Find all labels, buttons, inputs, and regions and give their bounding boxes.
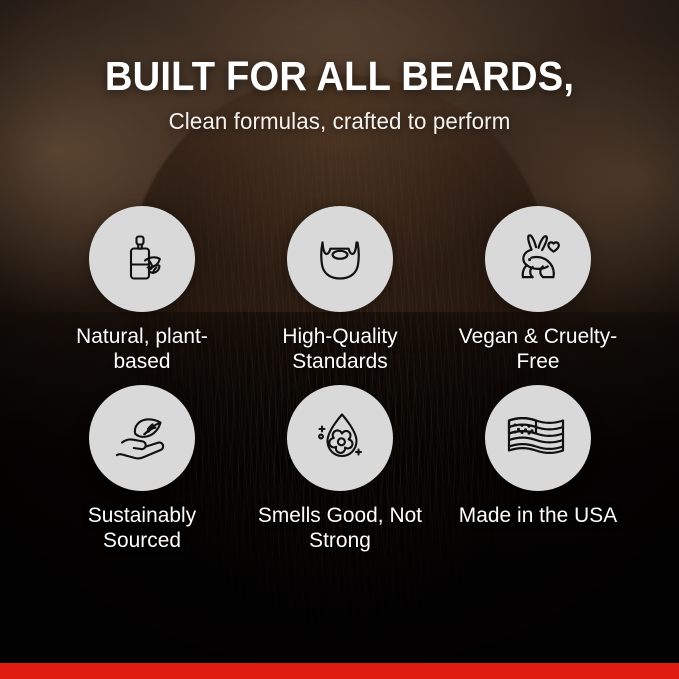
beard-icon bbox=[309, 228, 371, 290]
page-subtitle: Clean formulas, crafted to perform bbox=[10, 108, 669, 135]
page-title: BUILT FOR ALL BEARDS, bbox=[24, 56, 655, 98]
feature-item-high-quality-standards: High-Quality Standards bbox=[241, 206, 439, 374]
feature-badge bbox=[89, 206, 195, 312]
feature-label: Smells Good, Not Strong bbox=[254, 503, 425, 553]
feature-badge bbox=[485, 385, 591, 491]
feature-label: Natural, plant-based bbox=[56, 324, 227, 374]
feature-badge bbox=[485, 206, 591, 312]
feature-row-2: Sustainably Sourced bbox=[0, 385, 679, 553]
feature-item-sustainably-sourced: Sustainably Sourced bbox=[43, 385, 241, 553]
feature-item-natural-plant-based: Natural, plant-based bbox=[43, 206, 241, 374]
header: BUILT FOR ALL BEARDS, Clean formulas, cr… bbox=[0, 56, 679, 135]
infographic-canvas: BUILT FOR ALL BEARDS, Clean formulas, cr… bbox=[0, 0, 679, 679]
feature-item-made-in-the-usa: Made in the USA bbox=[439, 385, 637, 528]
rabbit-heart-icon bbox=[507, 230, 569, 288]
droplet-flower-sparkle-icon bbox=[309, 408, 371, 468]
feature-badge bbox=[89, 385, 195, 491]
feature-badge bbox=[287, 385, 393, 491]
feature-label: High-Quality Standards bbox=[254, 324, 425, 374]
feature-row-1: Natural, plant-based High-Quality Standa… bbox=[0, 206, 679, 374]
accent-bar bbox=[0, 663, 679, 679]
feature-item-smells-good-not-strong: Smells Good, Not Strong bbox=[241, 385, 439, 553]
usa-flag-icon bbox=[506, 414, 570, 462]
feature-grid: Natural, plant-based High-Quality Standa… bbox=[0, 206, 679, 553]
dropper-bottle-leaf-icon bbox=[112, 229, 172, 289]
feature-badge bbox=[287, 206, 393, 312]
hand-leaf-icon bbox=[111, 410, 173, 466]
feature-label: Vegan & Cruelty-Free bbox=[452, 324, 623, 374]
feature-label: Made in the USA bbox=[452, 503, 623, 528]
feature-label: Sustainably Sourced bbox=[56, 503, 227, 553]
feature-item-vegan-cruelty-free: Vegan & Cruelty-Free bbox=[439, 206, 637, 374]
